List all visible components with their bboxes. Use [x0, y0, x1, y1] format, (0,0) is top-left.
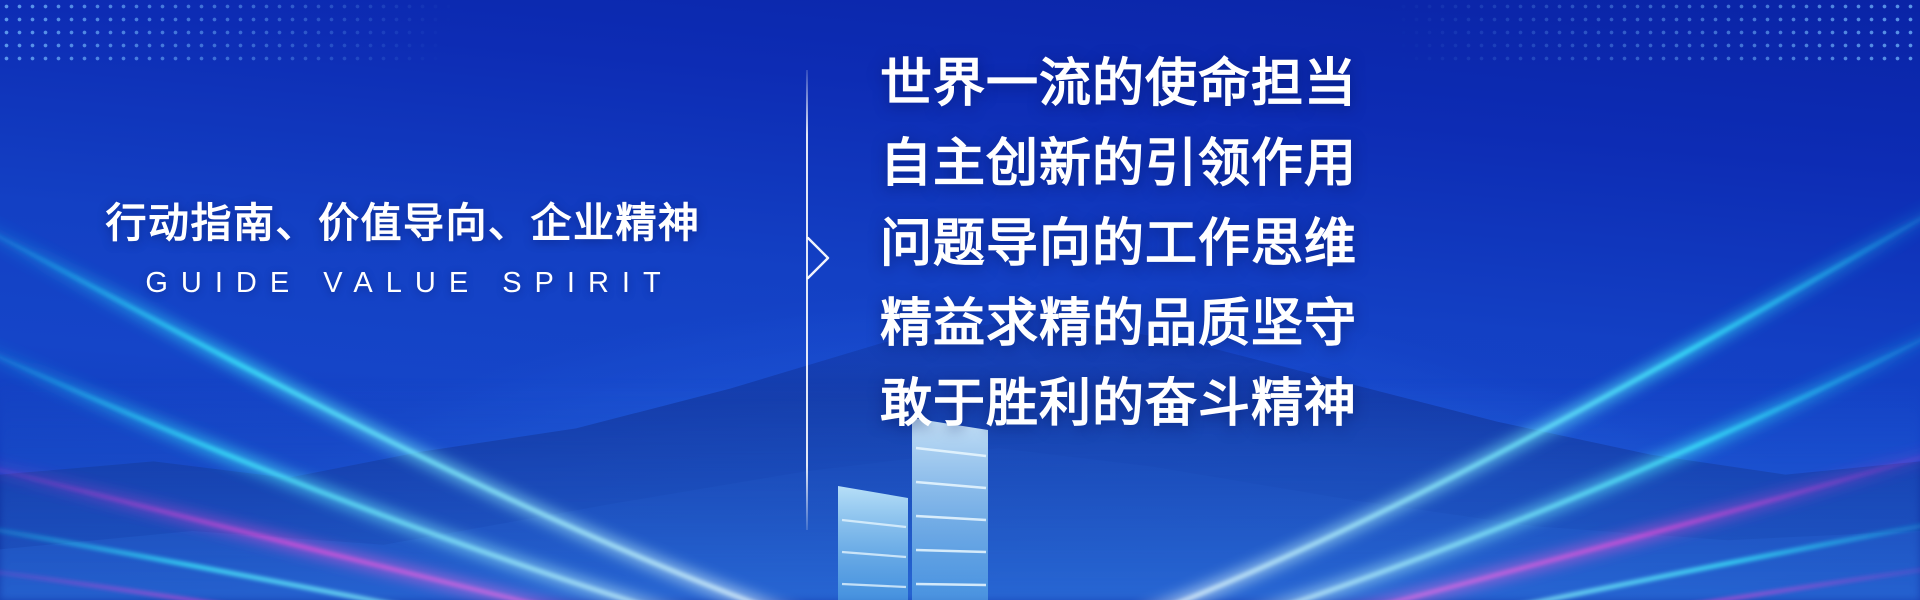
halftone-dots-left-icon [0, 0, 560, 64]
chevron-right-icon [806, 236, 832, 280]
vertical-divider [806, 70, 808, 530]
slogan-line-3: 问题导向的工作思维 [880, 204, 1390, 284]
corporate-culture-banner: 行动指南、价值导向、企业精神 GUIDE VALUE SPIRIT 世界一流的使… [0, 0, 1920, 600]
slogan-line-1: 世界一流的使命担当 [880, 44, 1390, 124]
left-title: 行动指南、价值导向、企业精神 [0, 198, 806, 249]
left-text-block: 行动指南、价值导向、企业精神 GUIDE VALUE SPIRIT [0, 198, 806, 300]
slogan-line-5: 敢于胜利的奋斗精神 [880, 364, 1390, 444]
right-slogan-list: 世界一流的使命担当 自主创新的引领作用 问题导向的工作思维 精益求精的品质坚守 … [880, 44, 1390, 444]
left-subtitle: GUIDE VALUE SPIRIT [0, 267, 806, 300]
slogan-line-4: 精益求精的品质坚守 [880, 284, 1390, 364]
slogan-line-2: 自主创新的引领作用 [880, 124, 1390, 204]
